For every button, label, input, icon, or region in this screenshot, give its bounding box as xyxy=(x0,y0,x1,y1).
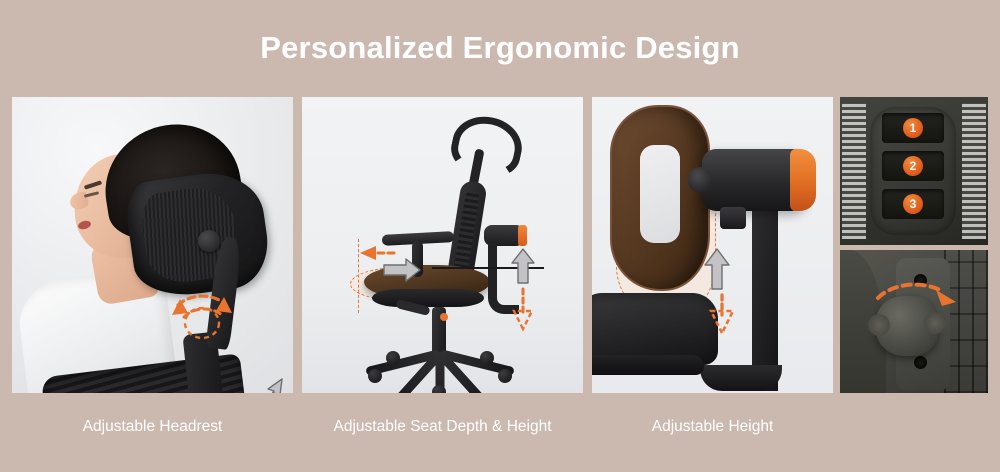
height-arrow-up xyxy=(258,379,282,393)
feature-panel-tension-knob xyxy=(840,250,988,393)
mesh-vent-left xyxy=(842,103,866,239)
product-feature-banner: Personalized Ergonomic Design xyxy=(0,0,1000,472)
rotation-arrow-head-left xyxy=(172,299,188,315)
seat-annotation-arrows xyxy=(302,97,583,393)
depth-arrow-left xyxy=(360,246,394,260)
control-buttons-illustration: 1 2 3 xyxy=(840,97,988,245)
caption-adjustable-seat-depth-height: Adjustable Seat Depth & Height xyxy=(302,417,583,437)
page-title: Personalized Ergonomic Design xyxy=(0,28,1000,68)
headrest-illustration xyxy=(12,97,293,393)
armrest-illustration xyxy=(592,97,833,393)
rotation-arc xyxy=(878,285,940,298)
height-arrow-down xyxy=(711,295,733,333)
feature-panel-armrest-height xyxy=(592,97,833,393)
height-arrow-up xyxy=(705,249,729,289)
rotation-arrow-head xyxy=(936,290,956,306)
armrest-annotation-arrows xyxy=(592,97,833,393)
rotation-arc-outer xyxy=(178,296,224,305)
headrest-annotation-arrows xyxy=(12,97,293,393)
feature-panel-control-buttons: 1 2 3 xyxy=(840,97,988,245)
feature-panel-seat-depth-height xyxy=(302,97,583,393)
height-arrow-up xyxy=(512,249,534,283)
seat-illustration xyxy=(302,97,583,393)
knob-annotation-arrow xyxy=(840,250,988,393)
caption-adjustable-headrest: Adjustable Headrest xyxy=(12,417,293,437)
position-badge-1: 1 xyxy=(903,118,923,138)
feature-panel-headrest xyxy=(12,97,293,393)
knob-illustration xyxy=(840,250,988,393)
mesh-vent-right xyxy=(962,103,986,239)
height-arrow-down xyxy=(514,289,532,329)
caption-adjustable-height: Adjustable Height xyxy=(592,417,833,437)
position-badge-2: 2 xyxy=(903,156,923,176)
position-badge-3: 3 xyxy=(903,194,923,214)
depth-arrow-right xyxy=(384,259,420,281)
pivot-highlight-ring xyxy=(185,308,219,338)
